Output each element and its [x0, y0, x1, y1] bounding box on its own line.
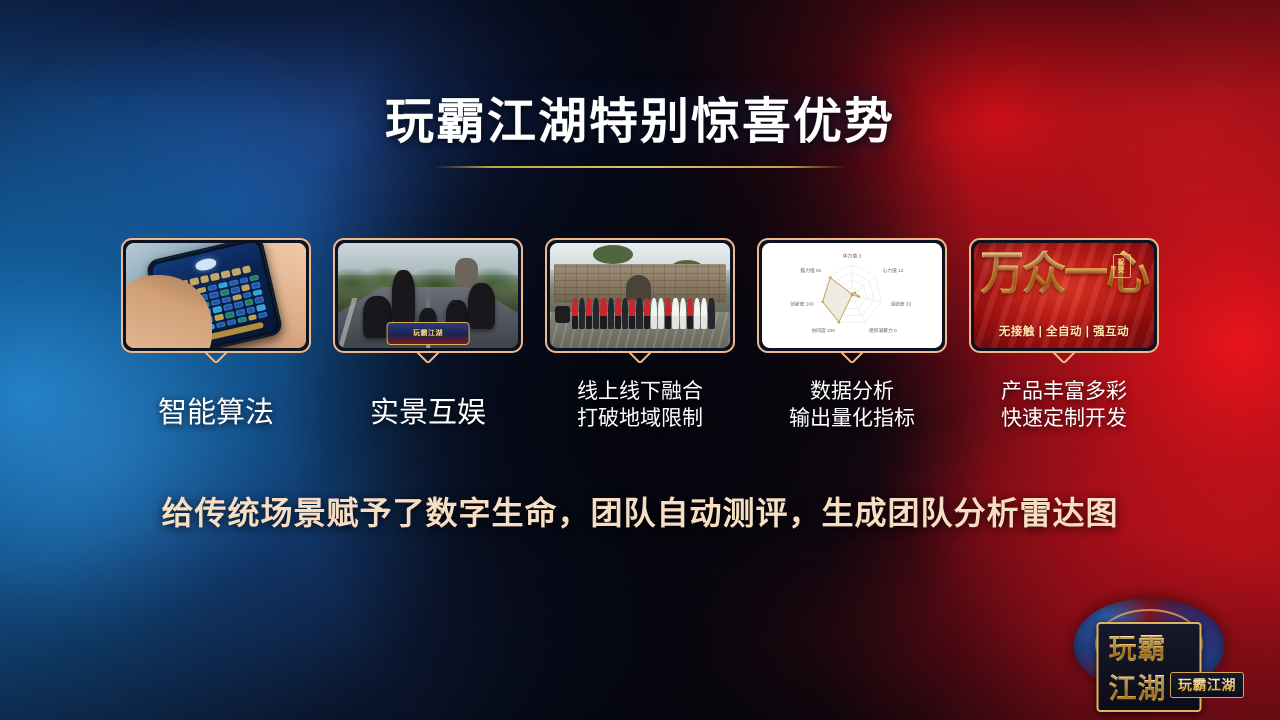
caption-4-line1: 数据分析	[757, 374, 947, 405]
svg-text:活跃度 23: 活跃度 23	[890, 300, 911, 307]
card-frame-3	[545, 238, 735, 353]
smartphone-game-photo	[126, 243, 306, 348]
title-underline	[434, 166, 846, 168]
feature-card-4[interactable]: 体力值 3心力值 12活跃度 23组织凝聚力 0协同度 100创新度 100脑力…	[757, 238, 947, 353]
feature-card-3[interactable]	[545, 238, 735, 353]
brand-logo: 玩霸江湖 玩霸江湖	[1044, 596, 1254, 704]
svg-text:体力值 3: 体力值 3	[843, 252, 862, 259]
svg-text:心力值 12: 心力值 12	[883, 267, 904, 274]
card-frame-2: 玩霸江湖	[333, 238, 523, 353]
feature-card-row: 玩霸江湖	[0, 238, 1280, 353]
logo-plate: 玩霸江湖	[1097, 622, 1202, 712]
title-block: 玩霸江湖特别惊喜优势	[0, 96, 1280, 168]
red-poster-image: 万众一心 祝贺 无接触 | 全自动 | 强互动	[974, 243, 1154, 348]
poster-subtitle: 无接触 | 全自动 | 强互动	[974, 323, 1154, 339]
card-frame-5: 万众一心 祝贺 无接触 | 全自动 | 强互动	[969, 238, 1159, 353]
caption-3-line2: 打破地域限制	[545, 405, 735, 432]
card-pointer-2	[411, 350, 445, 363]
video-watermark-label: 玩霸江湖	[413, 328, 443, 338]
card-pointer-4	[835, 350, 869, 363]
slide-tagline: 给传统场景赋予了数字生命，团队自动测评，生成团队分析雷达图	[0, 488, 1280, 534]
card-pointer-3	[623, 350, 657, 363]
feature-card-5[interactable]: 万众一心 祝贺 无接触 | 全自动 | 强互动	[969, 238, 1159, 353]
feature-card-1[interactable]	[121, 238, 311, 353]
card-pointer-5	[1047, 350, 1081, 363]
logo-main-label: 玩霸江湖	[1109, 632, 1167, 705]
logo-sub-plate: 玩霸江湖	[1170, 672, 1244, 698]
card-pointer-1	[199, 350, 233, 363]
caption-5: 产品丰富多彩 快速定制开发	[969, 374, 1159, 433]
svg-text:创新度 100: 创新度 100	[790, 300, 814, 307]
page-title: 玩霸江湖特别惊喜优势	[0, 96, 1280, 150]
poster-stamp: 祝贺	[1113, 254, 1131, 278]
outdoor-performance-photo: 玩霸江湖	[338, 243, 518, 348]
card-frame-4: 体力值 3心力值 12活跃度 23组织凝聚力 0协同度 100创新度 100脑力…	[757, 238, 947, 353]
caption-5-line1: 产品丰富多彩	[969, 374, 1159, 405]
caption-2-line1: 实景互娱	[333, 374, 523, 430]
caption-1: 智能算法	[121, 374, 311, 433]
caption-row: 智能算法 实景互娱 线上线下融合 打破地域限制 数据分析 输出量化指标 产品丰富…	[0, 374, 1280, 433]
svg-text:脑力值 92: 脑力值 92	[801, 267, 822, 274]
logo-sub-label: 玩霸江湖	[1178, 678, 1236, 694]
feature-card-2[interactable]: 玩霸江湖	[333, 238, 523, 353]
svg-text:协同度 100: 协同度 100	[812, 327, 836, 334]
radar-chart-image: 体力值 3心力值 12活跃度 23组织凝聚力 0协同度 100创新度 100脑力…	[762, 243, 942, 348]
caption-3-line1: 线上线下融合	[545, 374, 735, 405]
caption-4-line2: 输出量化指标	[757, 405, 947, 432]
caption-4: 数据分析 输出量化指标	[757, 374, 947, 433]
video-watermark-badge: 玩霸江湖	[387, 322, 470, 345]
group-gathering-photo	[550, 243, 730, 348]
caption-1-line1: 智能算法	[121, 374, 311, 430]
card-frame-1	[121, 238, 311, 353]
svg-text:组织凝聚力 0: 组织凝聚力 0	[869, 327, 897, 334]
caption-5-line2: 快速定制开发	[969, 405, 1159, 432]
slide-stage: 玩霸江湖特别惊喜优势	[0, 0, 1280, 720]
caption-3: 线上线下融合 打破地域限制	[545, 374, 735, 433]
caption-2: 实景互娱	[333, 374, 523, 433]
radar-chart: 体力值 3心力值 12活跃度 23组织凝聚力 0协同度 100创新度 100脑力…	[762, 243, 942, 348]
